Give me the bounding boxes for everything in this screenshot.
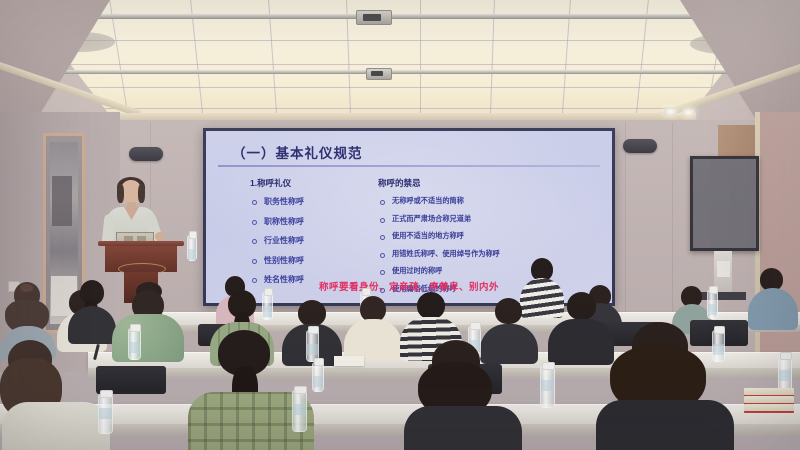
posted-notice — [717, 261, 730, 277]
bottle-label — [541, 380, 554, 391]
person-head — [495, 298, 522, 324]
bottle-label — [99, 408, 112, 419]
person-head — [567, 292, 596, 320]
book-stack[interactable] — [744, 388, 794, 412]
door-interior-object — [52, 176, 72, 226]
person-head — [298, 300, 326, 326]
bullet-item: 使用不适当的地方称呼 — [378, 231, 603, 241]
slide-title: （一）基本礼仪规范 — [232, 142, 363, 162]
person-torso — [68, 306, 116, 344]
notebook[interactable] — [334, 356, 364, 366]
bottle-cap — [470, 322, 481, 330]
bottle-cap — [189, 231, 197, 239]
bullet-item: 正式而严肃场合称兄道弟 — [378, 214, 603, 224]
bottle-cap — [709, 286, 718, 294]
audience-person — [748, 268, 798, 326]
bottle-cap — [314, 358, 324, 366]
audience-person — [0, 340, 110, 450]
ceiling-rail — [0, 70, 800, 74]
person-torso — [112, 314, 184, 362]
bullet-item: 行业性称呼 — [250, 235, 380, 246]
bottle-cap — [542, 362, 555, 370]
downlight — [664, 107, 677, 116]
right-pillar — [760, 112, 800, 372]
audience-person — [596, 322, 734, 450]
presenter-hand — [155, 232, 164, 241]
person-torso — [404, 406, 522, 450]
bottle-label — [188, 249, 196, 260]
wall-speaker — [623, 139, 657, 153]
water-bottle[interactable] — [98, 394, 113, 434]
bottle-label — [313, 376, 323, 387]
left-column-heading: 1.称呼礼仪 — [250, 177, 380, 189]
water-bottle[interactable] — [187, 235, 197, 261]
water-bottle[interactable] — [292, 390, 307, 432]
classroom-photo: （一）基本礼仪规范 1.称呼礼仪 职务性称呼 职称性称呼 行业性称呼 性别性称呼… — [0, 0, 800, 450]
ceiling-rail — [0, 14, 800, 19]
water-bottle[interactable] — [312, 362, 324, 392]
title-divider — [218, 165, 600, 167]
audience-person — [344, 296, 402, 358]
water-bottle[interactable] — [128, 328, 141, 360]
person-torso — [344, 319, 402, 361]
projector-lens — [371, 71, 383, 76]
bullet-item: 无称呼或不适当的简称 — [378, 196, 603, 206]
book — [744, 404, 794, 413]
bottle-cap — [100, 390, 113, 398]
projector — [366, 68, 392, 80]
person-torso — [596, 400, 734, 450]
projector-lens — [363, 14, 381, 21]
wall-speaker — [129, 147, 163, 161]
audience-person — [112, 284, 184, 356]
bottle-cap — [130, 324, 141, 332]
presenter-hair-side — [138, 184, 145, 203]
bottle-cap — [362, 288, 371, 296]
wall-seam — [672, 122, 673, 312]
bottle-label — [129, 342, 140, 353]
wall-mounted-monitor[interactable] — [690, 156, 759, 251]
person-torso — [748, 288, 798, 330]
bullet-item: 职称性称呼 — [250, 216, 380, 227]
audience-person — [404, 340, 522, 450]
slide-left-column: 1.称呼礼仪 职务性称呼 职称性称呼 行业性称呼 性别性称呼 姓名性称呼 — [250, 177, 380, 294]
person-torso — [2, 402, 110, 450]
bottle-label — [708, 304, 717, 315]
water-bottle[interactable] — [540, 366, 555, 408]
bullet-item: 使用过时的称呼 — [378, 266, 603, 276]
bottle-cap — [780, 352, 792, 360]
hair-clip — [20, 284, 33, 292]
bullet-item: 职务性称呼 — [250, 196, 380, 207]
ceiling — [0, 0, 800, 136]
bottle-label — [779, 370, 791, 381]
bottle-cap — [294, 386, 307, 394]
person-head — [417, 292, 445, 319]
presenter-hair-side — [117, 184, 124, 203]
left-bullet-list: 职务性称呼 职称性称呼 行业性称呼 性别性称呼 姓名性称呼 — [250, 196, 380, 285]
projector — [356, 10, 392, 25]
bullet-item: 性别性称呼 — [250, 255, 380, 266]
bullet-item: 用错姓氏称呼、使用绰号作为称呼 — [378, 249, 603, 259]
bottle-label — [293, 404, 306, 415]
water-bottle[interactable] — [707, 290, 718, 319]
right-column-heading: 称呼的禁忌 — [378, 177, 603, 189]
downlight — [682, 108, 695, 117]
